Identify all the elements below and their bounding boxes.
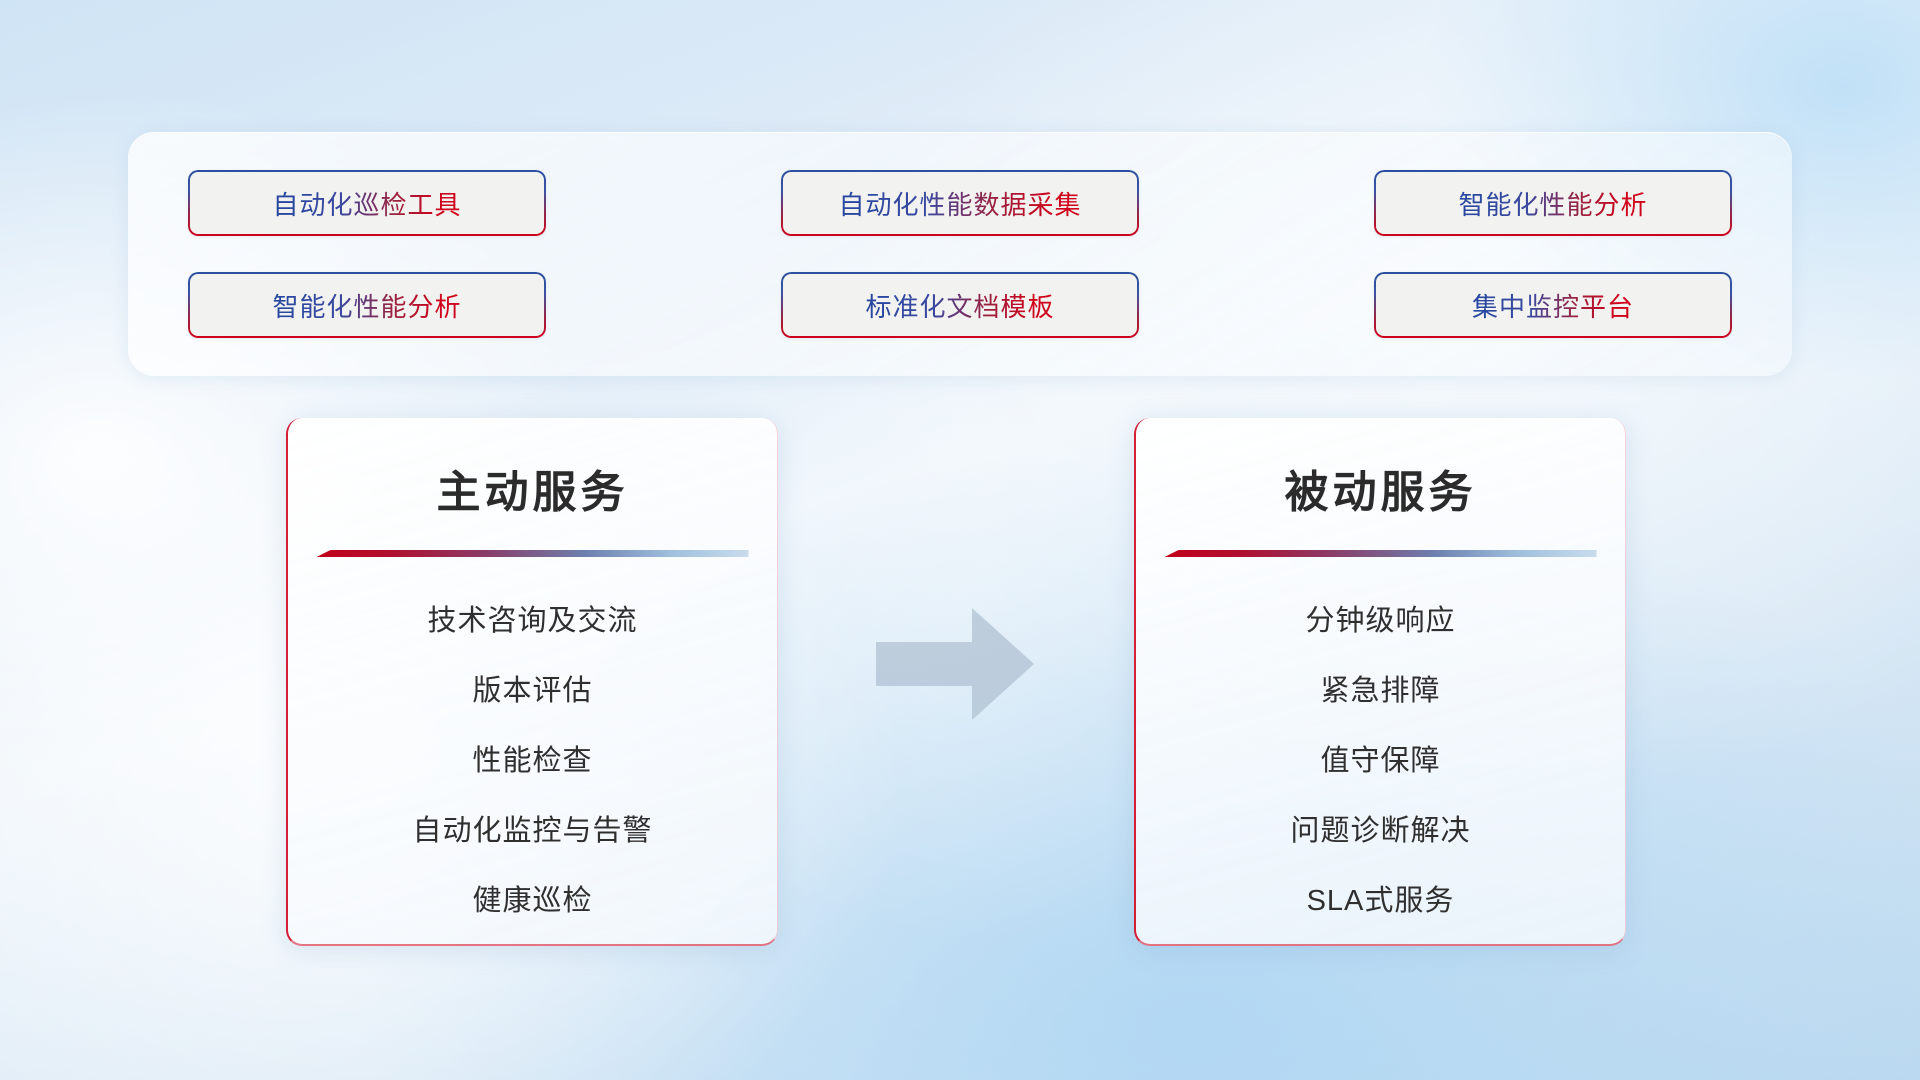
tag-label: 自动化巡检工具 bbox=[272, 185, 461, 222]
list-item: 问题诊断解决 bbox=[1136, 807, 1625, 849]
tag-item[interactable]: 智能化性能分析 bbox=[1374, 170, 1732, 236]
tag-label: 集中监控平台 bbox=[1472, 287, 1634, 324]
card-item-list: 技术咨询及交流 版本评估 性能检查 自动化监控与告警 健康巡检 bbox=[288, 597, 777, 919]
card-title: 主动服务 bbox=[288, 456, 777, 520]
diagram-stage: 自动化巡检工具 自动化性能数据采集 智能化性能分析 智能化性能分析 标准化文档模… bbox=[0, 0, 1920, 1080]
list-item: 值守保障 bbox=[1136, 737, 1625, 779]
tag-label: 标准化文档模板 bbox=[865, 287, 1054, 324]
card-divider bbox=[317, 550, 749, 557]
tag-item[interactable]: 智能化性能分析 bbox=[188, 272, 546, 338]
tag-item[interactable]: 集中监控平台 bbox=[1374, 272, 1732, 338]
tag-label: 智能化性能分析 bbox=[272, 287, 461, 324]
service-card-proactive: 主动服务 技术咨询及交流 版本评估 性能检查 自动化监控与告警 健康巡检 bbox=[286, 418, 778, 946]
tag-row-2: 智能化性能分析 标准化文档模板 集中监控平台 bbox=[188, 272, 1732, 338]
list-item: SLA式服务 bbox=[1136, 877, 1625, 919]
list-item: 自动化监控与告警 bbox=[288, 807, 777, 849]
service-card-reactive: 被动服务 分钟级响应 紧急排障 值守保障 问题诊断解决 SLA式服务 bbox=[1134, 418, 1626, 946]
list-item: 版本评估 bbox=[288, 667, 777, 709]
arrow-right-icon bbox=[876, 608, 1034, 720]
tag-item[interactable]: 自动化性能数据采集 bbox=[781, 170, 1139, 236]
tag-label: 自动化性能数据采集 bbox=[838, 185, 1081, 222]
card-item-list: 分钟级响应 紧急排障 值守保障 问题诊断解决 SLA式服务 bbox=[1136, 597, 1625, 919]
list-item: 紧急排障 bbox=[1136, 667, 1625, 709]
capability-tag-panel: 自动化巡检工具 自动化性能数据采集 智能化性能分析 智能化性能分析 标准化文档模… bbox=[128, 132, 1792, 376]
list-item: 技术咨询及交流 bbox=[288, 597, 777, 639]
tag-label: 智能化性能分析 bbox=[1458, 185, 1647, 222]
list-item: 性能检查 bbox=[288, 737, 777, 779]
tag-row-1: 自动化巡检工具 自动化性能数据采集 智能化性能分析 bbox=[188, 170, 1732, 236]
tag-item[interactable]: 自动化巡检工具 bbox=[188, 170, 546, 236]
card-title: 被动服务 bbox=[1136, 456, 1625, 520]
list-item: 健康巡检 bbox=[288, 877, 777, 919]
card-divider bbox=[1165, 550, 1597, 557]
tag-item[interactable]: 标准化文档模板 bbox=[781, 272, 1139, 338]
list-item: 分钟级响应 bbox=[1136, 597, 1625, 639]
